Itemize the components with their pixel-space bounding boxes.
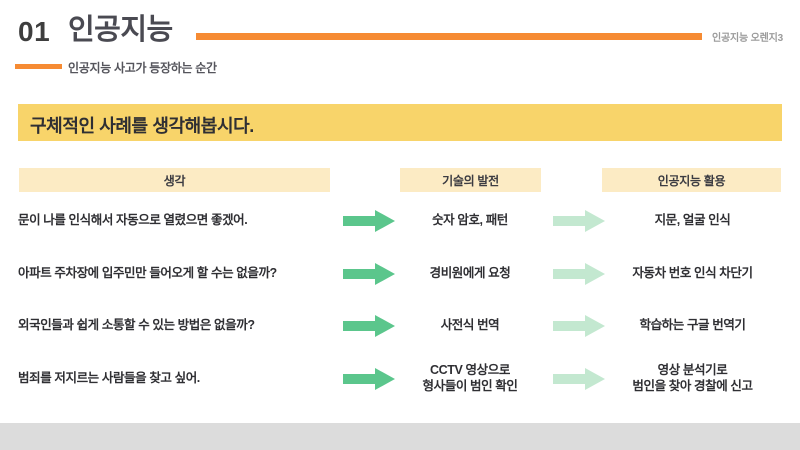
column-header-tech: 기술의 발전 [400, 168, 541, 192]
table-row: 문이 나를 인식해서 자동으로 열렸으면 좋겠어. 숫자 암호, 패턴 지문, … [0, 205, 800, 239]
row-think-text: 외국인들과 쉽게 소통할 수 있는 방법은 없을까? [18, 317, 338, 333]
table-row: 외국인들과 쉽게 소통할 수 있는 방법은 없을까? 사전식 번역 학습하는 구… [0, 310, 800, 344]
title-banner: 구체적인 사례를 생각해봅시다. [18, 104, 782, 141]
row-tech-text: 경비원에게 요청 [385, 265, 555, 281]
slide-canvas: 01 인공지능 인공지능 오렌지3 인공지능 사고가 등장하는 순간 구체적인 … [0, 0, 800, 450]
chapter-number: 01 [18, 16, 50, 48]
table-row: 아파트 주차장에 입주민만 들어오게 할 수는 없을까? 경비원에게 요청 자동… [0, 258, 800, 292]
table-row: 범죄를 저지르는 사람들을 찾고 싶어. CCTV 영상으로 형사들이 범인 확… [0, 357, 800, 399]
column-header-ai: 인공지능 활용 [602, 168, 781, 192]
row-tech-text: 사전식 번역 [385, 317, 555, 333]
header-right-label: 인공지능 오렌지3 [712, 29, 783, 44]
row-ai-text: 영상 분석기로 범인을 찾아 경찰에 신고 [595, 362, 790, 394]
slide-header: 01 인공지능 인공지능 오렌지3 [0, 0, 800, 52]
row-tech-text: 숫자 암호, 패턴 [385, 212, 555, 228]
row-think-text: 문이 나를 인식해서 자동으로 열렸으면 좋겠어. [18, 212, 338, 228]
row-think-text: 범죄를 저지르는 사람들을 찾고 싶어. [18, 370, 338, 386]
row-ai-text: 지문, 얼굴 인식 [595, 212, 790, 228]
column-header-think: 생각 [19, 168, 330, 192]
slide-subtitle: 인공지능 사고가 등장하는 순간 [68, 59, 217, 76]
header-accent-bar [196, 33, 702, 40]
banner-text: 구체적인 사례를 생각해봅시다. [30, 112, 254, 138]
footer-bar [0, 423, 800, 450]
subtitle-dash [15, 64, 62, 69]
row-ai-text: 학습하는 구글 번역기 [595, 317, 790, 333]
row-think-text: 아파트 주차장에 입주민만 들어오게 할 수는 없을까? [18, 265, 338, 281]
row-tech-text: CCTV 영상으로 형사들이 범인 확인 [385, 362, 555, 394]
chapter-title: 인공지능 [68, 13, 173, 47]
row-ai-text: 자동차 번호 인식 차단기 [595, 265, 790, 281]
